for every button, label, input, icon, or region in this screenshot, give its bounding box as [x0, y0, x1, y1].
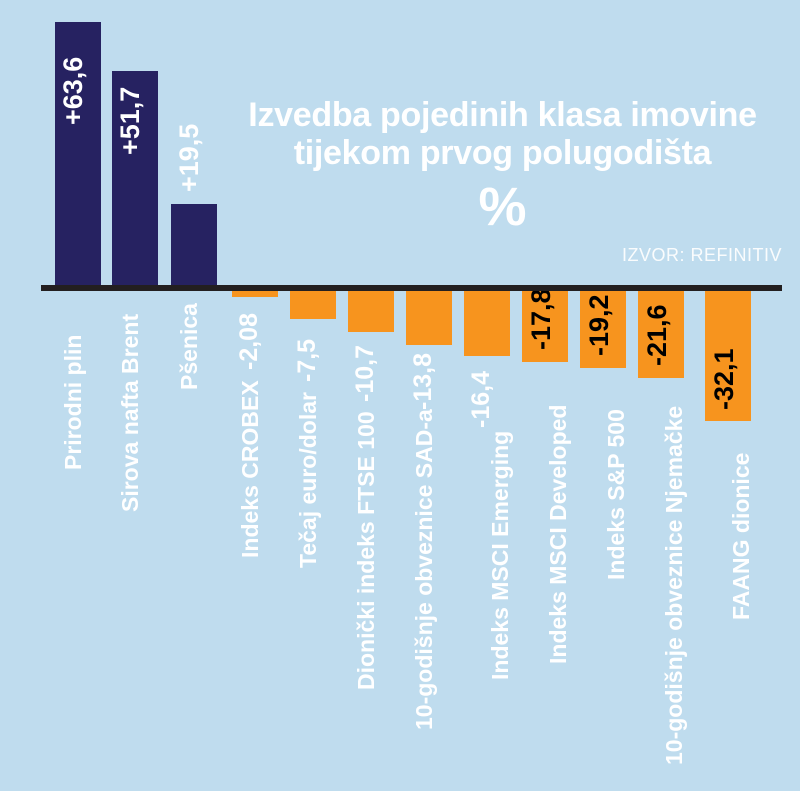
- bar-value-label: -17,8: [528, 288, 555, 350]
- bar-negative[interactable]: [406, 288, 452, 345]
- bar-value-label: -19,2: [586, 294, 613, 356]
- page-title: Izvedba pojedinih klasa imovine tijekom …: [225, 96, 780, 172]
- category-label: FAANG dionice: [730, 453, 753, 620]
- category-label: Tečaj euro/dolar: [297, 392, 320, 568]
- bar-negative[interactable]: [348, 288, 394, 332]
- bar-negative[interactable]: [290, 288, 336, 319]
- infographic-bar-chart: +63,6Prirodni plin+51,7Sirova nafta Bren…: [0, 0, 800, 791]
- bar-negative[interactable]: [464, 288, 510, 356]
- bar-value-label: -2,08: [237, 313, 262, 370]
- bar-value-label: -32,1: [711, 348, 738, 410]
- title-block: Izvedba pojedinih klasa imovine tijekom …: [225, 96, 780, 234]
- bar-value-label: -16,4: [469, 371, 494, 428]
- bar-positive[interactable]: [171, 204, 217, 285]
- category-label: Indeks MSCI Developed: [547, 405, 570, 664]
- bar-value-label: -21,6: [644, 304, 671, 366]
- bar-value-label: -10,7: [353, 345, 378, 402]
- zero-axis-line: [41, 285, 782, 291]
- bar-value-label: +51,7: [117, 87, 144, 155]
- category-label: Pšenica: [178, 303, 201, 390]
- bar-value-label: -7,5: [295, 339, 320, 382]
- category-label: 10-godišnje obveznice SAD-a: [413, 409, 436, 730]
- source-note: IZVOR: REFINITIV: [622, 245, 782, 266]
- bar-value-label: +19,5: [176, 124, 203, 192]
- unit-symbol: %: [225, 180, 780, 234]
- bar-value-label: -13,8: [411, 353, 436, 410]
- category-label: 10-godišnje obveznice Njemačke: [663, 406, 686, 765]
- category-label: Indeks MSCI Emerging: [489, 431, 512, 680]
- category-label: Dionički indeks FTSE 100: [355, 411, 378, 690]
- category-label: Indeks CROBEX: [239, 380, 262, 558]
- bar-value-label: +63,6: [60, 57, 87, 125]
- bar-column[interactable]: [171, 0, 217, 791]
- category-label: Prirodni plin: [62, 335, 85, 470]
- category-label: Sirova nafta Brent: [119, 314, 142, 512]
- category-label: Indeks S&P 500: [605, 409, 628, 580]
